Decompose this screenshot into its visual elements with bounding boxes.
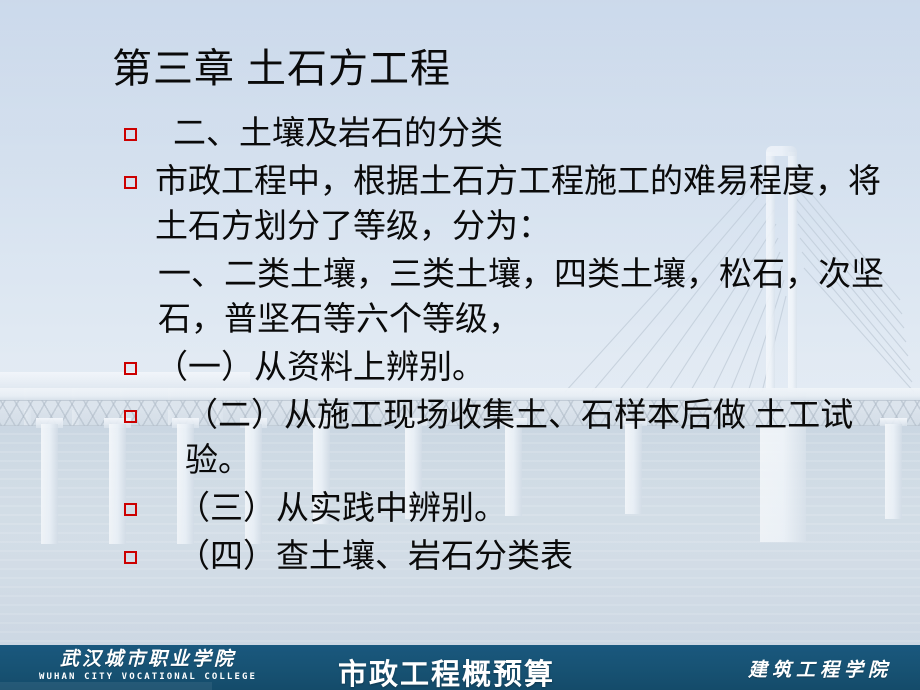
- presentation-slide: 第三章 土石方工程 二、土壤及岩石的分类 市政工程中，根据土石方工程施工的难易程…: [0, 0, 920, 690]
- slide-body: 二、土壤及岩石的分类 市政工程中，根据土石方工程施工的难易程度，将土石方划分了等…: [124, 112, 894, 583]
- slide-title: 第三章 土石方工程: [112, 36, 451, 94]
- bullet-text: 市政工程中，根据土石方工程施工的难易程度，将土石方划分了等级，分为：: [155, 160, 894, 250]
- college-name-cn: 武汉城市职业学院: [28, 649, 268, 671]
- slide-footer-bar: 武汉城市职业学院 WUHAN CITY VOCATIONAL COLLEGE 市…: [0, 645, 920, 690]
- bullet-marker-square-icon: [124, 362, 137, 375]
- department-name: 建筑工程学院: [748, 655, 892, 682]
- bullet-text: 二、土壤及岩石的分类: [173, 112, 894, 157]
- bullet-text: （二）从施工现场收集土、石样本后做: [185, 398, 746, 434]
- bullet-paragraph: （三）从实践中辨别。: [124, 487, 894, 532]
- continuation-paragraph: 一、二类土壤，三类土壤，四类土壤，松石，次坚石，普坚石等六个等级，: [124, 253, 894, 343]
- college-name-en: WUHAN CITY VOCATIONAL COLLEGE: [28, 671, 268, 684]
- bullet-marker-square-icon: [124, 503, 137, 516]
- continuation-text: 一、二类土壤，三类土壤，四类土壤，松石，次坚石，普坚石等六个等级，: [158, 253, 894, 343]
- bullet-text: （三）从实践中辨别。: [177, 487, 894, 532]
- bullet-paragraph: （四）查土壤、岩石分类表: [124, 535, 894, 580]
- bullet-paragraph: 市政工程中，根据土石方工程施工的难易程度，将土石方划分了等级，分为：: [124, 160, 894, 250]
- college-logo: 武汉城市职业学院 WUHAN CITY VOCATIONAL COLLEGE: [28, 649, 268, 684]
- bullet-text: （四）查土壤、岩石分类表: [177, 535, 894, 580]
- bullet-paragraph: （二）从施工现场收集土、石样本后做 土工试验。: [124, 394, 894, 484]
- bullet-marker-square-icon: [124, 551, 137, 564]
- bullet-marker-square-icon: [124, 176, 137, 189]
- course-title: 市政工程概预算: [338, 651, 555, 690]
- bullet-paragraph: 二、土壤及岩石的分类: [124, 112, 894, 157]
- bullet-marker-square-icon: [124, 410, 137, 423]
- bullet-paragraph: （一）从资料上辨别。: [124, 346, 894, 391]
- bullet-marker-square-icon: [124, 128, 137, 141]
- bullet-text-block: （二）从施工现场收集土、石样本后做 土工试验。: [185, 394, 894, 484]
- bullet-text: （一）从资料上辨别。: [155, 346, 894, 391]
